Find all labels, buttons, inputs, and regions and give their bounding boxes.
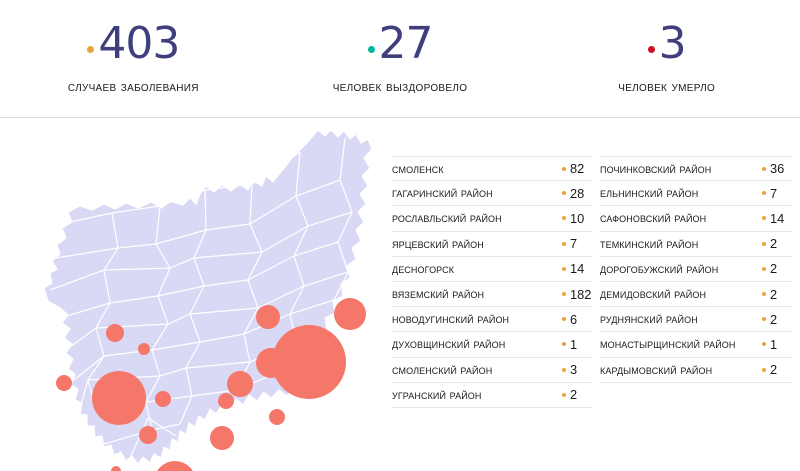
district-name: Духовщинский район [392, 337, 558, 351]
table-row[interactable]: Гагаринский район 28 [392, 181, 592, 206]
district-value: 182 [570, 287, 592, 302]
bullet-icon [762, 216, 766, 220]
stat-value-cases: 403 [98, 22, 179, 66]
table-row[interactable]: Ельнинский район 7 [600, 181, 792, 206]
bullet-icon [762, 242, 766, 246]
bullet-icon [562, 317, 566, 321]
district-value-group: 1 [558, 337, 592, 352]
district-value-group: 6 [558, 312, 592, 327]
map-bubble[interactable] [334, 298, 366, 330]
district-value: 2 [770, 312, 792, 327]
stat-block-cases: 403 Случаев заболевания [0, 0, 267, 95]
map-bubble[interactable] [56, 375, 72, 391]
district-name: Дорогобужский район [600, 262, 758, 276]
stat-label-cases: Случаев заболевания [68, 79, 199, 95]
district-value-group: 28 [558, 186, 592, 201]
district-name: Темкинский район [600, 237, 758, 251]
map-regions [44, 130, 372, 464]
district-name: Угранский район [392, 388, 558, 402]
district-value-group: 2 [758, 362, 792, 377]
bullet-icon [562, 267, 566, 271]
table-row[interactable]: Рославльский район 10 [392, 206, 592, 231]
table-row[interactable]: Духовщинский район 1 [392, 332, 592, 357]
stat-value-recovered: 27 [379, 22, 433, 66]
map-bubble[interactable] [92, 371, 146, 425]
stat-number-row: 403 [87, 22, 179, 66]
map-bubble[interactable] [329, 354, 345, 370]
stats-bar: 403 Случаев заболевания 27 Человек выздо… [0, 0, 800, 118]
status-dot-icon-recovered [368, 46, 375, 53]
district-value-group: 14 [558, 261, 592, 276]
bullet-icon [562, 191, 566, 195]
district-value: 2 [770, 287, 792, 302]
map-bubble[interactable] [256, 305, 280, 329]
region-map-panel[interactable] [0, 118, 390, 471]
district-name: Демидовский район [600, 287, 758, 301]
district-value-group: 2 [558, 387, 592, 402]
district-value: 82 [570, 161, 592, 176]
district-name: Ярцевский район [392, 237, 558, 251]
map-region-outline[interactable] [44, 130, 372, 464]
map-bubble[interactable] [106, 324, 124, 342]
district-value: 28 [570, 186, 592, 201]
bullet-icon [562, 216, 566, 220]
district-value-group: 7 [558, 236, 592, 251]
status-dot-icon-cases [87, 46, 94, 53]
stat-number-row: 3 [648, 22, 686, 66]
bullet-icon [762, 317, 766, 321]
district-table-column-right: Починковский район 36 Ельнинский район 7… [592, 156, 792, 471]
map-bubble[interactable] [139, 426, 157, 444]
district-value-group: 2 [758, 287, 792, 302]
stat-block-deaths: 3 Человек умерло [533, 0, 800, 95]
stat-number-row: 27 [368, 22, 433, 66]
district-name: Руднянский район [600, 312, 758, 326]
map-bubble[interactable] [155, 391, 171, 407]
district-value: 2 [770, 362, 792, 377]
district-table-column-left: Смоленск 82 Гагаринский район 28 Рославл… [390, 156, 592, 471]
district-name: Кардымовский район [600, 363, 758, 377]
table-row[interactable]: Смоленский район 3 [392, 358, 592, 383]
district-case-table: Смоленск 82 Гагаринский район 28 Рославл… [390, 118, 800, 471]
bullet-icon [562, 342, 566, 346]
bullet-icon [562, 393, 566, 397]
map-bubble[interactable] [218, 393, 234, 409]
bullet-icon [562, 242, 566, 246]
district-value-group: 36 [758, 161, 792, 176]
map-bubble[interactable] [269, 409, 285, 425]
district-value: 2 [770, 236, 792, 251]
district-value: 7 [770, 186, 792, 201]
map-bubble[interactable] [227, 371, 253, 397]
stat-block-recovered: 27 Человек выздоровело [267, 0, 534, 95]
district-value-group: 10 [558, 211, 592, 226]
map-bubble[interactable] [111, 466, 121, 471]
district-name: Новодугинский район [392, 312, 558, 326]
district-name: Сафоновский район [600, 211, 758, 225]
district-value-group: 14 [758, 211, 792, 226]
stat-label-deaths: Человек умерло [618, 79, 715, 95]
smolensk-oblast-map[interactable] [0, 118, 390, 471]
district-value: 2 [570, 387, 592, 402]
district-value-group: 82 [558, 161, 592, 176]
district-value: 1 [770, 337, 792, 352]
district-value: 14 [770, 211, 792, 226]
district-value: 14 [570, 261, 592, 276]
district-value-group: 3 [558, 362, 592, 377]
district-value-group: 1 [758, 337, 792, 352]
table-row[interactable]: Угранский район 2 [392, 383, 592, 408]
content-area: Смоленск 82 Гагаринский район 28 Рославл… [0, 118, 800, 471]
bullet-icon [762, 267, 766, 271]
map-bubble[interactable] [210, 426, 234, 450]
table-row[interactable]: Дорогобужский район 2 [600, 257, 792, 282]
table-row[interactable]: Кардымовский район 2 [600, 358, 792, 383]
bullet-icon [762, 191, 766, 195]
district-name: Починковский район [600, 162, 758, 176]
district-name: Рославльский район [392, 211, 558, 225]
bullet-icon [562, 368, 566, 372]
table-row[interactable]: Ярцевский район 7 [392, 232, 592, 257]
table-row[interactable]: Монастырщинский район 1 [600, 332, 792, 357]
table-row[interactable]: Темкинский район 2 [600, 232, 792, 257]
map-bubble[interactable] [256, 348, 286, 378]
district-value-group: 2 [758, 312, 792, 327]
district-value-group: 182 [558, 287, 592, 302]
district-value-group: 7 [758, 186, 792, 201]
district-value: 7 [570, 236, 592, 251]
table-row[interactable]: Сафоновский район 14 [600, 206, 792, 231]
bullet-icon [762, 292, 766, 296]
map-bubble[interactable] [138, 343, 150, 355]
table-row[interactable]: Демидовский район 2 [600, 282, 792, 307]
district-value: 1 [570, 337, 592, 352]
bullet-icon [762, 167, 766, 171]
district-name: Ельнинский район [600, 186, 758, 200]
bullet-icon [762, 342, 766, 346]
table-row[interactable]: Вяземский район 182 [392, 282, 592, 307]
bullet-icon [762, 368, 766, 372]
stat-label-recovered: Человек выздоровело [333, 79, 468, 95]
district-name: Смоленский район [392, 363, 558, 377]
table-row[interactable]: Десногорск 14 [392, 257, 592, 282]
district-value: 10 [570, 211, 592, 226]
stat-value-deaths: 3 [659, 22, 686, 66]
table-row[interactable]: Новодугинский район 6 [392, 307, 592, 332]
district-name: Гагаринский район [392, 186, 558, 200]
bullet-icon [562, 292, 566, 296]
district-name: Десногорск [392, 262, 558, 276]
table-row-empty [600, 383, 792, 408]
table-row[interactable]: Смоленск 82 [392, 156, 592, 181]
district-value: 3 [570, 362, 592, 377]
district-value: 36 [770, 161, 792, 176]
bullet-icon [562, 167, 566, 171]
district-value-group: 2 [758, 261, 792, 276]
district-value: 2 [770, 261, 792, 276]
district-name: Смоленск [392, 162, 558, 176]
table-row[interactable]: Руднянский район 2 [600, 307, 792, 332]
table-row[interactable]: Починковский район 36 [600, 156, 792, 181]
map-bubble[interactable] [154, 461, 196, 471]
district-value-group: 2 [758, 236, 792, 251]
district-value: 6 [570, 312, 592, 327]
status-dot-icon-deaths [648, 46, 655, 53]
district-name: Вяземский район [392, 287, 558, 301]
district-name: Монастырщинский район [600, 337, 758, 351]
